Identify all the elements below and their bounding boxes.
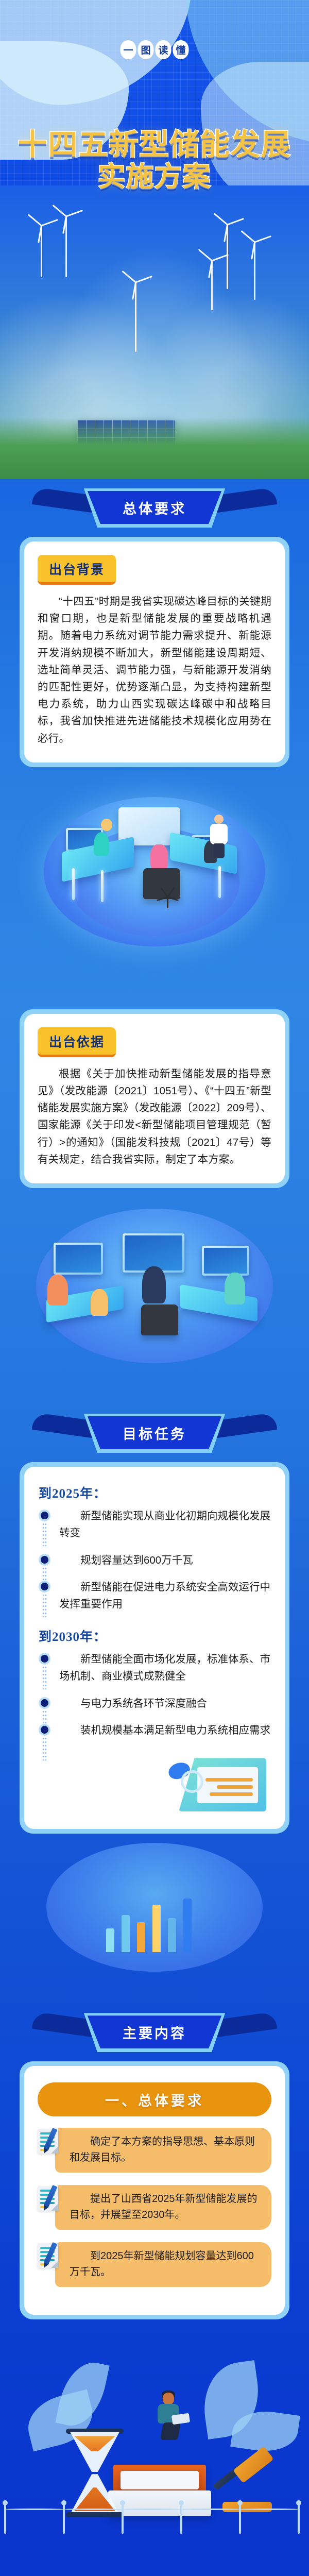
- goal-item: 新型储能实现从商业化初期向规模化发展转变: [38, 1508, 271, 1542]
- wind-turbine-icon: [124, 273, 147, 355]
- badge-char-2: 图: [138, 40, 154, 59]
- page-title-line-1: 十四五新型储能发展: [0, 129, 309, 162]
- gavel-icon: [213, 2450, 275, 2512]
- note-item: 确定了本方案的指导思想、基本原则和发展目标。: [38, 2128, 271, 2173]
- bullet-dot-icon: [41, 1655, 48, 1663]
- grass-ground: [0, 417, 309, 479]
- goal-item-text: 新型储能实现从商业化初期向规模化发展转变: [59, 1508, 271, 1542]
- badge-char-1: 一: [121, 40, 136, 59]
- wind-turbine-icon: [202, 251, 221, 313]
- energy-photo: [0, 185, 309, 479]
- goal-item: 装机规模基本满足新型电力系统相应需求: [38, 1722, 271, 1739]
- monitor-icon: [202, 1246, 249, 1276]
- goal-item: 新型储能在促进电力系统安全高效运行中发挥重要作用: [38, 1579, 271, 1613]
- chart-bar-icon: [210, 1792, 253, 1796]
- note-item-text: 提出了山西省2025年新型储能发展的目标，并展望至2030年。: [55, 2185, 271, 2230]
- lamp-icon: [72, 868, 75, 900]
- badge-char-4: 懂: [173, 40, 189, 59]
- person-with-laptop-icon: [154, 2393, 184, 2440]
- goal-year-2025: 到2025年：: [39, 1483, 271, 1502]
- data-chart-illustration: [38, 1750, 271, 1811]
- bullet-dot-icon: [41, 1726, 48, 1734]
- person-figure: [47, 1275, 68, 1306]
- ribbon-shape: 总体要求: [79, 488, 230, 528]
- office-chair-icon: [141, 1304, 178, 1335]
- goal-item: 规划容量达到600万千瓦: [38, 1552, 271, 1569]
- note-item: 提出了山西省2025年新型储能发展的目标，并展望至2030年。: [38, 2185, 271, 2230]
- section-ribbon-main-content: 主要内容: [0, 2004, 309, 2061]
- goal-illustration: [0, 1834, 309, 2004]
- document-pen-icon: [38, 2243, 62, 2270]
- person-figure: [94, 832, 109, 856]
- note-item-text: 确定了本方案的指导思想、基本原则和发展目标。: [55, 2128, 271, 2173]
- person-figure: [208, 815, 230, 858]
- lamp-icon: [101, 870, 104, 902]
- note-item-text: 到2025年新型储能规划容量达到600万千瓦。: [55, 2242, 271, 2287]
- card-main-content: 一、总体要求 确定了本方案的指导思想、基本原则和发展目标。 提出了山西省2: [20, 2061, 289, 2319]
- bullet-trail-icon: [42, 1666, 47, 1689]
- page-title-line-2: 实施方案: [0, 162, 309, 192]
- wind-turbine-icon: [243, 233, 266, 305]
- goal-item-text: 新型储能全面市场化发展，标准体系、市场机制、商业模式成熟健全: [59, 1651, 271, 1685]
- infographic-page: 一 图 读 懂 十四五新型储能发展 实施方案: [0, 0, 309, 2576]
- monitor-icon: [54, 1243, 103, 1275]
- ribbon-shape: 主要内容: [79, 2013, 230, 2052]
- read-in-one-picture-badge: 一 图 读 懂: [121, 40, 189, 59]
- ribbon-label: 主要内容: [123, 2022, 186, 2042]
- goal-year-2030: 到2030年：: [39, 1626, 271, 1645]
- badge-char-3: 读: [156, 40, 171, 59]
- subsection-heading-overall-requirements: 一、总体要求: [38, 2082, 271, 2116]
- document-pen-icon: [38, 2186, 62, 2213]
- books-illustration: [0, 2319, 309, 2541]
- note-item: 到2025年新型储能规划容量达到600万千瓦。: [38, 2242, 271, 2287]
- bullet-trail-icon: [42, 1594, 47, 1617]
- book-pages-icon: [121, 2471, 199, 2489]
- person-figure: [225, 1273, 245, 1304]
- person-figure: [101, 819, 112, 831]
- rope-icon: [5, 2509, 64, 2510]
- goal-item: 新型储能全面市场化发展，标准体系、市场机制、商业模式成熟健全: [38, 1651, 271, 1685]
- card-background: 出台背景 “十四五”时期是我省实现碳达峰目标的关键期和窗口期，也是新型储能发展的…: [20, 537, 289, 767]
- chart-bar-icon: [217, 1785, 253, 1789]
- bar-chart-icon: [106, 1895, 204, 1952]
- bullet-dot-icon: [41, 1699, 48, 1707]
- document-pen-icon: [38, 2129, 62, 2156]
- card-body-basis: 根据《关于加快推动新型储能发展的指导意见》（发改能源〔2021〕1051号）、《…: [38, 1065, 271, 1168]
- card-goals: 到2025年： 新型储能实现从商业化初期向规模化发展转变 规划容量达到600万千…: [20, 1462, 289, 1834]
- chart-bar-icon: [205, 1778, 253, 1782]
- page-title: 十四五新型储能发展 实施方案: [0, 129, 309, 192]
- goal-item: 与电力系统各环节深度融合: [38, 1696, 271, 1713]
- chair-base-icon: [154, 897, 181, 912]
- bullet-trail-icon: [42, 1522, 47, 1546]
- hero-banner: 一 图 读 懂 十四五新型储能发展 实施方案: [0, 0, 309, 479]
- hourglass-icon: [70, 2432, 119, 2514]
- goal-item-text: 新型储能在促进电力系统安全高效运行中发挥重要作用: [59, 1579, 271, 1613]
- card-basis: 出台依据 根据《关于加快推动新型储能发展的指导意见》（发改能源〔2021〕105…: [20, 1009, 289, 1188]
- goal-item-text: 与电力系统各环节深度融合: [59, 1696, 271, 1713]
- bullet-dot-icon: [41, 1512, 48, 1519]
- card-body-background: “十四五”时期是我省实现碳达峰目标的关键期和窗口期，也是新型储能发展的重要战略机…: [38, 593, 271, 747]
- goal-item-text: 规划容量达到600万千瓦: [59, 1552, 271, 1569]
- bullet-dot-icon: [41, 1583, 48, 1590]
- magnifier-lens-icon: [181, 1770, 203, 1793]
- person-figure: [91, 1289, 108, 1316]
- section-ribbon-goals: 目标任务: [0, 1404, 309, 1462]
- team-illustration: [0, 1188, 309, 1404]
- ribbon-label: 总体要求: [123, 498, 186, 518]
- ribbon-shape: 目标任务: [79, 1414, 230, 1453]
- wind-turbine-icon: [56, 207, 76, 279]
- wind-turbine-icon: [31, 216, 51, 278]
- bullet-dot-icon: [41, 1556, 48, 1564]
- goal-item-text: 装机规模基本满足新型电力系统相应需求: [59, 1722, 271, 1739]
- person-figure: [150, 844, 168, 871]
- card-tag-basis: 出台依据: [38, 1027, 116, 1057]
- section-ribbon-overall-requirements: 总体要求: [0, 479, 309, 537]
- office-illustration: [0, 767, 309, 1009]
- ribbon-label: 目标任务: [123, 1423, 186, 1443]
- person-figure: [142, 1266, 166, 1303]
- leaf-icon: [55, 2357, 109, 2431]
- lamp-icon: [218, 866, 221, 898]
- card-tag-background: 出台背景: [38, 555, 116, 585]
- office-chair-icon: [143, 868, 180, 899]
